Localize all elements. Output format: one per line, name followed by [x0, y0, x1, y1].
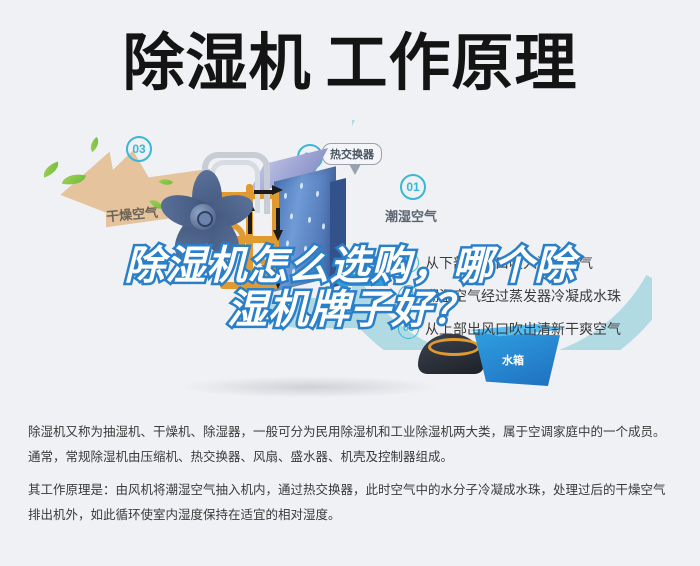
moist-air-label: 潮湿空气 [385, 206, 437, 225]
page-root: 除湿机工作原理 干燥空气 03 02 01 热交换器 [0, 0, 700, 566]
flow-arrow-stem [276, 208, 280, 230]
flow-arrow-right-icon [272, 185, 283, 195]
machine-shadow [180, 376, 440, 398]
article-paragraph-2: 其工作原理是：由风机将潮湿空气抽入机内，通过热交换器，此时空气中的水分子冷凝成水… [28, 478, 676, 528]
overlay-headline: 除湿机怎么选购，哪个除 湿机牌子好？ [0, 244, 700, 332]
flow-arrow-down-icon [273, 230, 283, 241]
page-title: 除湿机工作原理 [0, 28, 700, 100]
title-part-1: 除湿机 [122, 29, 311, 98]
title-part-2: 工作原理 [326, 29, 578, 98]
water-tank-label: 水箱 [502, 352, 524, 368]
badge-01: 01 [400, 174, 426, 200]
article-paragraph-1: 除湿机又称为抽湿机、干燥机、除湿器，一般可分为民用除湿机和工业除湿机两大类，属于… [28, 420, 676, 470]
badge-03: 03 [126, 136, 152, 162]
